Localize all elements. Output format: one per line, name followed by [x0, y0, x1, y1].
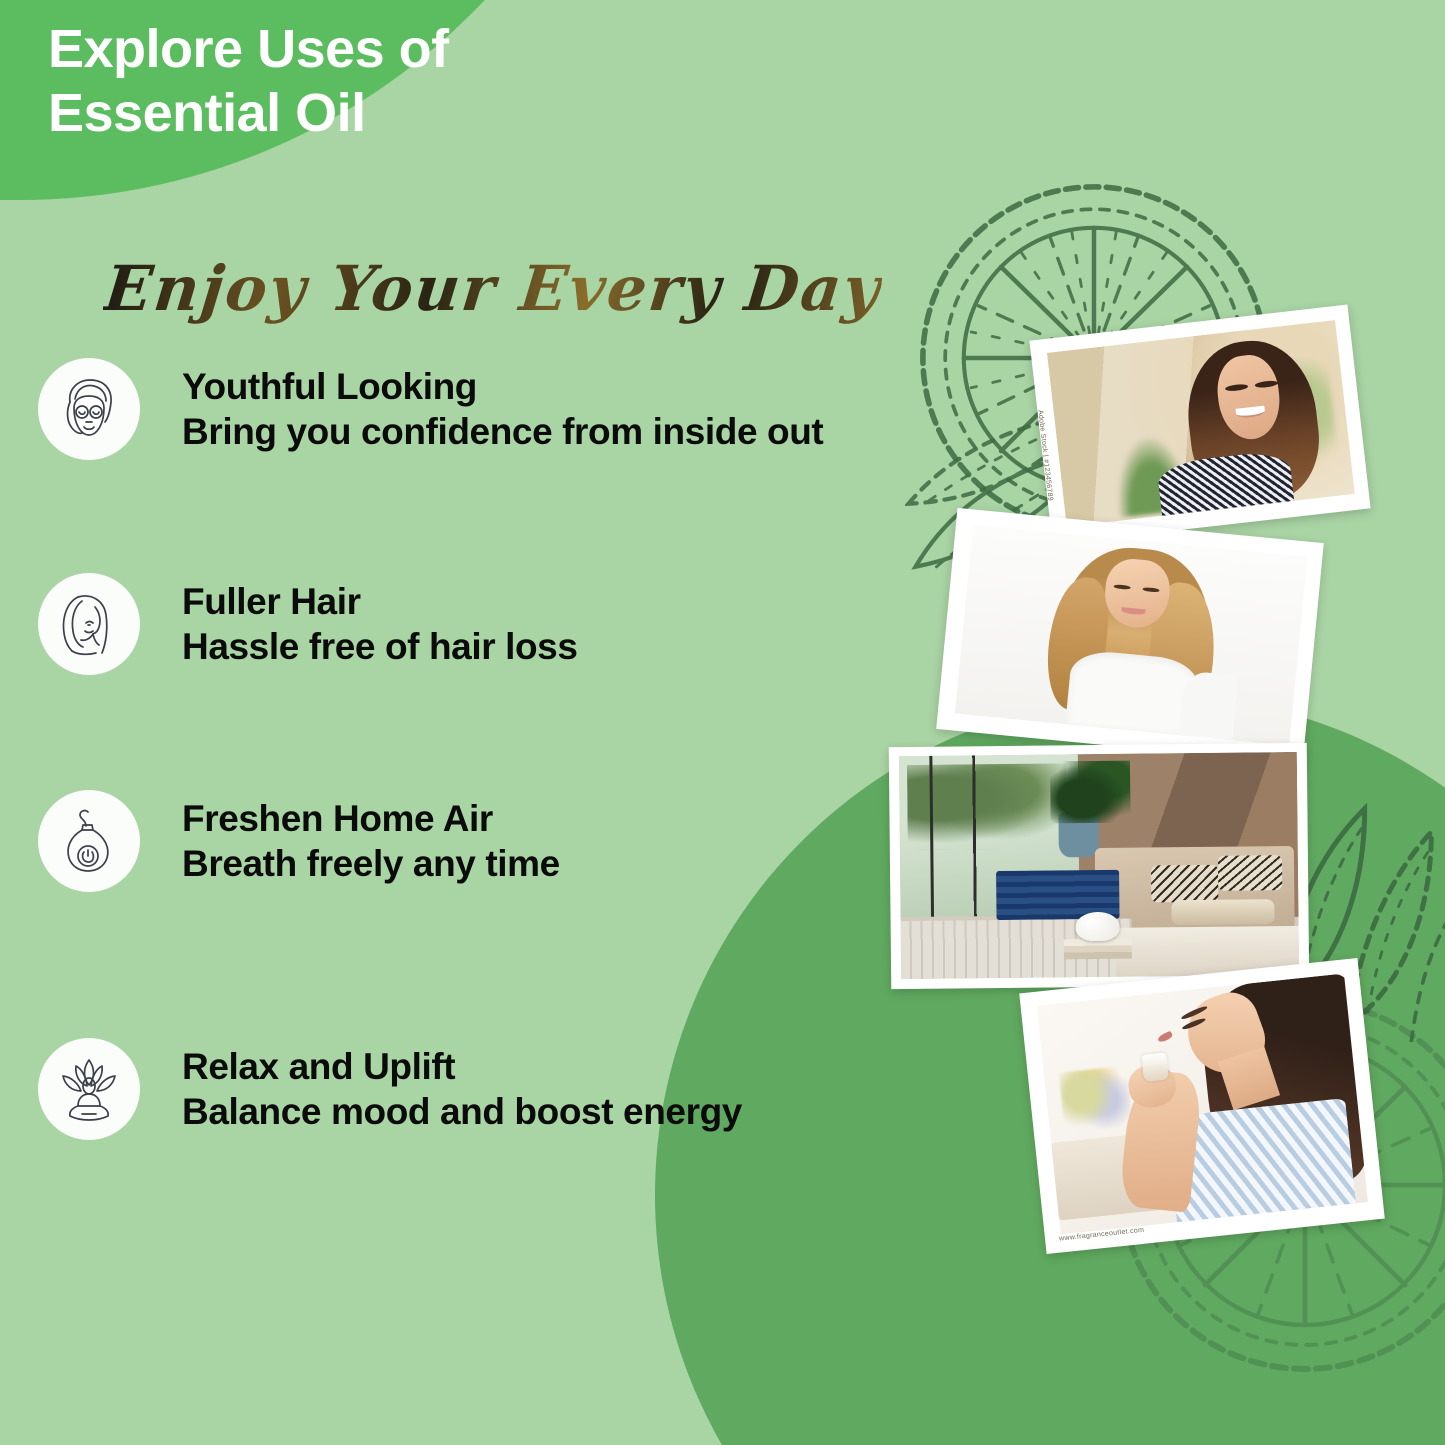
feature-item-fuller-hair: Fuller Hair Hassle free of hair loss	[38, 573, 578, 675]
feature-headline: Freshen Home Air	[182, 796, 560, 841]
feature-item-freshen-home-air: Freshen Home Air Breath freely any time	[38, 790, 560, 892]
photo-smiling-woman-cafe: Adobe Stock | #123456789	[1029, 305, 1370, 545]
long-hair-profile-icon	[38, 573, 140, 675]
feature-subline: Breath freely any time	[182, 841, 560, 886]
feature-subline: Hassle free of hair loss	[182, 624, 578, 669]
photo-wavy-blonde-hair	[936, 508, 1324, 764]
feature-headline: Relax and Uplift	[182, 1044, 742, 1089]
photo-living-room-diffuser	[889, 743, 1310, 989]
aroma-diffuser-icon	[38, 790, 140, 892]
tagline-script-text: Enjoy Your Every Day	[101, 252, 885, 325]
face-mask-icon	[38, 358, 140, 460]
infographic-canvas: Explore Uses of Essential Oil Enjoy Your…	[0, 0, 1445, 1445]
page-title: Explore Uses of Essential Oil	[48, 18, 449, 145]
lotus-meditation-icon	[38, 1038, 140, 1140]
feature-subline: Balance mood and boost energy	[182, 1089, 742, 1134]
feature-item-relax-and-uplift: Relax and Uplift Balance mood and boost …	[38, 1038, 742, 1140]
feature-subline: Bring you confidence from inside out	[182, 409, 823, 454]
feature-item-youthful-looking: Youthful Looking Bring you confidence fr…	[38, 358, 823, 460]
feature-headline: Fuller Hair	[182, 579, 578, 624]
feature-headline: Youthful Looking	[182, 364, 823, 409]
photo-woman-applying-perfume: www.fragranceoutlet.com	[1019, 958, 1385, 1254]
